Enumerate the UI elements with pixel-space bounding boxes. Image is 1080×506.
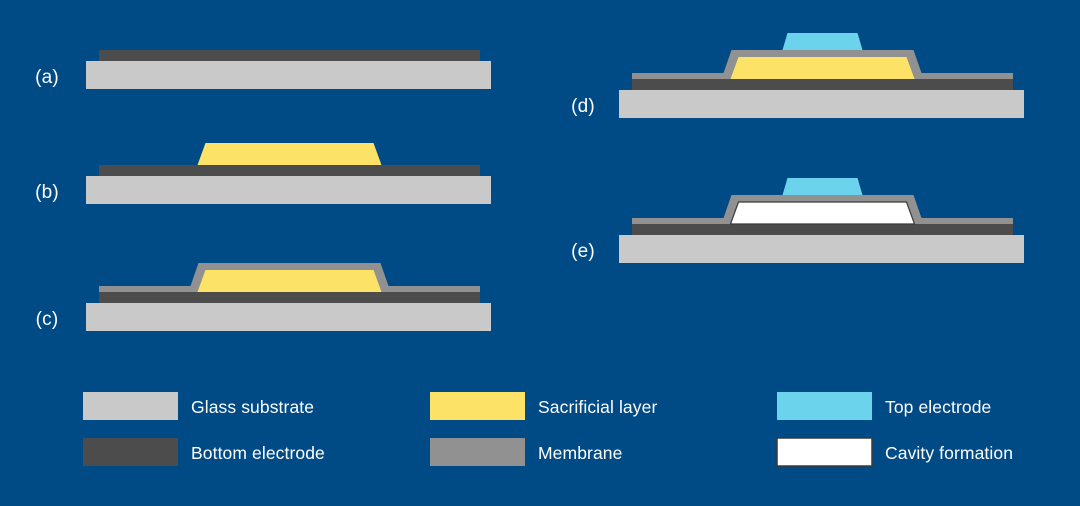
cavity-formation [731,202,915,224]
panel-label-e: (e) [571,241,595,262]
glass-substrate-layer [86,61,491,89]
panel-a: (a) [35,50,491,89]
fabrication-process-figure: (a)(b)(c)(d)(e) Glass substrateSacrifici… [0,0,1080,506]
legend-swatch-membrane [430,438,525,466]
legend-label-top-electrode: Top electrode [885,397,991,417]
legend-swatch-bottom-electrode [83,438,178,466]
legend-label-cavity-formation: Cavity formation [885,443,1013,463]
glass-substrate-layer [619,235,1024,263]
process-diagram-canvas: (a)(b)(c)(d)(e) Glass substrateSacrifici… [0,0,1080,506]
legend-label-glass-substrate: Glass substrate [191,397,314,417]
legend-swatch-cavity-formation [777,438,872,466]
legend-item-sacrificial-layer: Sacrificial layer [430,392,657,420]
legend-item-cavity-formation: Cavity formation [777,438,1013,466]
legend-item-top-electrode: Top electrode [777,392,991,420]
glass-substrate-layer [86,176,491,204]
sacrificial-layer [198,143,382,165]
panel-label-a: (a) [35,67,59,88]
bottom-electrode-layer [632,79,1013,90]
legend-swatch-glass-substrate [83,392,178,420]
legend-swatch-top-electrode [777,392,872,420]
glass-substrate-layer [86,303,491,331]
legend-label-bottom-electrode: Bottom electrode [191,443,325,463]
bottom-electrode-layer [632,224,1013,235]
bottom-electrode-layer [99,292,480,303]
legend-swatch-sacrificial-layer [430,392,525,420]
panel-label-d: (d) [571,96,595,117]
sacrificial-layer [198,270,382,292]
bottom-electrode-layer [99,165,480,176]
legend-label-sacrificial-layer: Sacrificial layer [538,397,657,417]
sacrificial-layer [731,57,915,79]
top-electrode-layer [783,178,863,195]
bottom-electrode-layer [99,50,480,61]
legend-item-glass-substrate: Glass substrate [83,392,314,420]
legend-item-bottom-electrode: Bottom electrode [83,438,325,466]
panel-label-c: (c) [36,309,59,330]
glass-substrate-layer [619,90,1024,118]
panel-label-b: (b) [35,182,59,203]
top-electrode-layer [783,33,863,50]
legend-label-membrane: Membrane [538,443,622,463]
